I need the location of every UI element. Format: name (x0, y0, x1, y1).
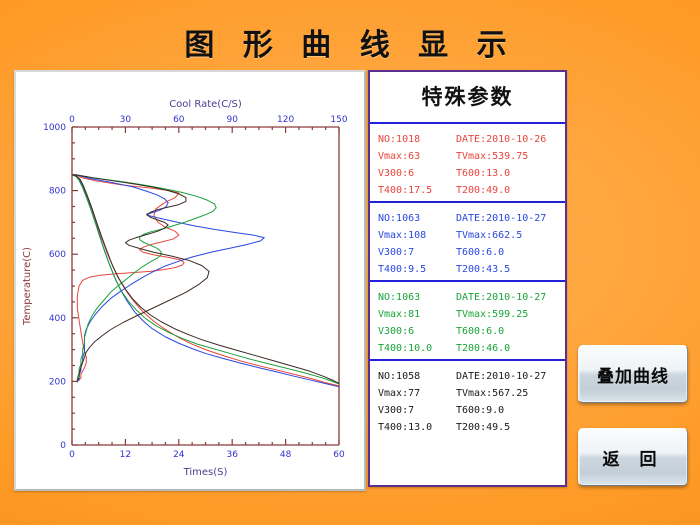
param-no: NO:1063 (378, 289, 456, 306)
param-v300: V300:6 (378, 323, 456, 340)
back-button[interactable]: 返 回 (578, 428, 688, 486)
param-v300: V300:7 (378, 402, 456, 419)
svg-text:90: 90 (226, 115, 238, 125)
overlay-curves-button[interactable]: 叠加曲线 (578, 345, 688, 403)
param-t400: T400:9.5 (378, 261, 456, 278)
param-vmax: Vmax:108 (378, 227, 456, 244)
param-tvmax: TVmax:567.25 (456, 385, 565, 402)
svg-text:0: 0 (69, 115, 75, 125)
param-tvmax: TVmax:599.25 (456, 306, 565, 323)
param-panel-title: 特殊参数 (370, 72, 565, 124)
svg-text:600: 600 (49, 250, 66, 260)
page-title: 图 形 曲 线 显 示 (0, 20, 700, 64)
temperature-cooling-rate-chart: 0306090120150Cool Rate(C/S)01224364860Ti… (16, 72, 360, 485)
special-parameters-panel: 特殊参数 NO:1018DATE:2010-10-26 Vmax:63TVmax… (368, 70, 567, 487)
param-no: NO:1063 (378, 210, 456, 227)
param-block: NO:1063DATE:2010-10-27 Vmax:81TVmax:599.… (370, 282, 565, 361)
param-t400: T400:13.0 (378, 419, 456, 436)
param-tvmax: TVmax:539.75 (456, 148, 565, 165)
svg-text:400: 400 (49, 314, 66, 324)
svg-text:1000: 1000 (43, 123, 66, 133)
svg-text:60: 60 (173, 115, 185, 125)
app-window: 图 形 曲 线 显 示 0306090120150Cool Rate(C/S)0… (0, 0, 700, 525)
svg-text:24: 24 (173, 450, 185, 460)
param-t400: T400:10.0 (378, 340, 456, 357)
param-t200: T200:43.5 (456, 261, 565, 278)
param-date: DATE:2010-10-27 (456, 289, 565, 306)
param-date: DATE:2010-10-26 (456, 131, 565, 148)
param-no: NO:1058 (378, 368, 456, 385)
param-block: NO:1018DATE:2010-10-26 Vmax:63TVmax:539.… (370, 124, 565, 203)
param-t200: T200:49.0 (456, 182, 565, 199)
param-t600: T600:6.0 (456, 244, 565, 261)
param-vmax: Vmax:63 (378, 148, 456, 165)
param-block: NO:1063DATE:2010-10-27 Vmax:108TVmax:662… (370, 203, 565, 282)
param-vmax: Vmax:77 (378, 385, 456, 402)
param-v300: V300:6 (378, 165, 456, 182)
svg-text:12: 12 (120, 450, 131, 460)
param-no: NO:1018 (378, 131, 456, 148)
svg-text:0: 0 (60, 441, 66, 451)
chart-panel: 0306090120150Cool Rate(C/S)01224364860Ti… (14, 70, 366, 491)
svg-text:200: 200 (49, 377, 66, 387)
svg-text:Temperature(C): Temperature(C) (22, 247, 33, 326)
svg-text:60: 60 (333, 450, 345, 460)
param-block: NO:1058DATE:2010-10-27 Vmax:77TVmax:567.… (370, 361, 565, 440)
svg-text:Cool Rate(C/S): Cool Rate(C/S) (169, 99, 242, 110)
param-t600: T600:13.0 (456, 165, 565, 182)
param-date: DATE:2010-10-27 (456, 210, 565, 227)
svg-text:800: 800 (49, 187, 66, 197)
param-v300: V300:7 (378, 244, 456, 261)
svg-text:48: 48 (280, 450, 292, 460)
param-t600: T600:6.0 (456, 323, 565, 340)
param-t600: T600:9.0 (456, 402, 565, 419)
param-t200: T200:49.5 (456, 419, 565, 436)
param-t400: T400:17.5 (378, 182, 456, 199)
svg-text:30: 30 (120, 115, 132, 125)
svg-text:150: 150 (330, 115, 347, 125)
svg-text:120: 120 (277, 115, 294, 125)
svg-text:Times(S): Times(S) (183, 467, 228, 478)
param-vmax: Vmax:81 (378, 306, 456, 323)
param-tvmax: TVmax:662.5 (456, 227, 565, 244)
param-t200: T200:46.0 (456, 340, 565, 357)
svg-text:0: 0 (69, 450, 75, 460)
param-date: DATE:2010-10-27 (456, 368, 565, 385)
svg-text:36: 36 (226, 450, 238, 460)
